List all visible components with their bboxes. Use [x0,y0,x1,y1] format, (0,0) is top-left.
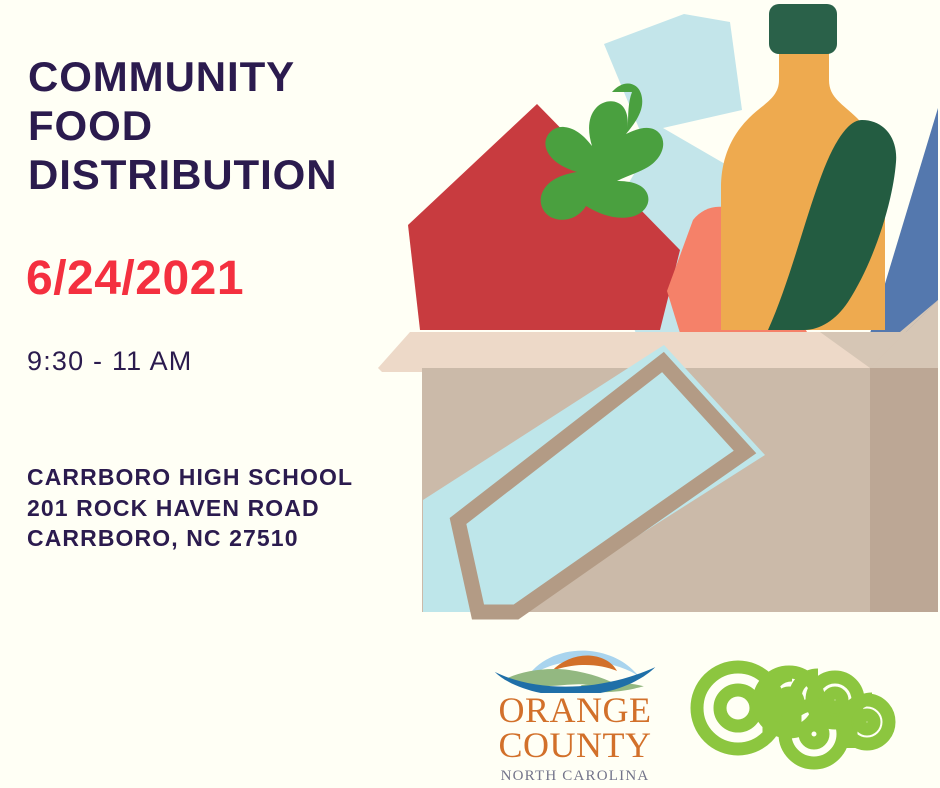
box-flap-right-icon [870,300,938,368]
box-flap-icon [378,332,938,368]
carton-in-box-icon [423,345,765,612]
headline-line-2: FOOD [28,101,418,150]
cucumber-icon [768,120,896,330]
carton-outline-icon [458,362,745,612]
oc-name-line-1: ORANGE [480,693,670,728]
box-flap-left-icon [378,332,428,372]
orange-county-state-label: NORTH CAROLINA [480,768,670,785]
box-inner-fold-icon [820,300,938,368]
red-diamond-produce-icon [408,104,680,330]
flyer-canvas: COMMUNITY FOOD DISTRIBUTION 6/24/2021 9:… [0,0,940,788]
logo-row: ORANGE COUNTY NORTH CAROLINA [470,640,930,788]
carrboro-bubble-wordmark-icon [685,652,905,770]
venue-line-3: CARRBORO, NC 27510 [27,523,353,554]
orange-county-swoosh-icon [489,645,661,693]
light-blue-bag-icon [600,14,744,345]
oc-name-line-2: COUNTY [480,728,670,763]
orange-county-wordmark: ORANGE COUNTY [480,693,670,763]
headline-line-1: COMMUNITY [28,52,418,101]
box-side-icon [870,300,938,612]
venue-address: CARRBORO HIGH SCHOOL 201 ROCK HAVEN ROAD… [27,462,353,554]
event-date: 6/24/2021 [26,255,244,303]
blue-triangle-package-icon [868,108,938,340]
venue-line-1: CARRBORO HIGH SCHOOL [27,462,353,493]
box-front-icon [422,368,870,612]
carrot-greens-icon [541,83,664,219]
oil-bottle-icon [721,42,885,330]
carrot-icon [667,207,807,346]
bottle-cap-icon [769,4,837,54]
orange-county-logo: ORANGE COUNTY NORTH CAROLINA [480,645,670,788]
headline-line-3: DISTRIBUTION [28,150,418,199]
event-time: 9:30 - 11 AM [27,348,192,375]
page-title: COMMUNITY FOOD DISTRIBUTION [28,52,418,199]
venue-line-2: 201 ROCK HAVEN ROAD [27,493,353,524]
